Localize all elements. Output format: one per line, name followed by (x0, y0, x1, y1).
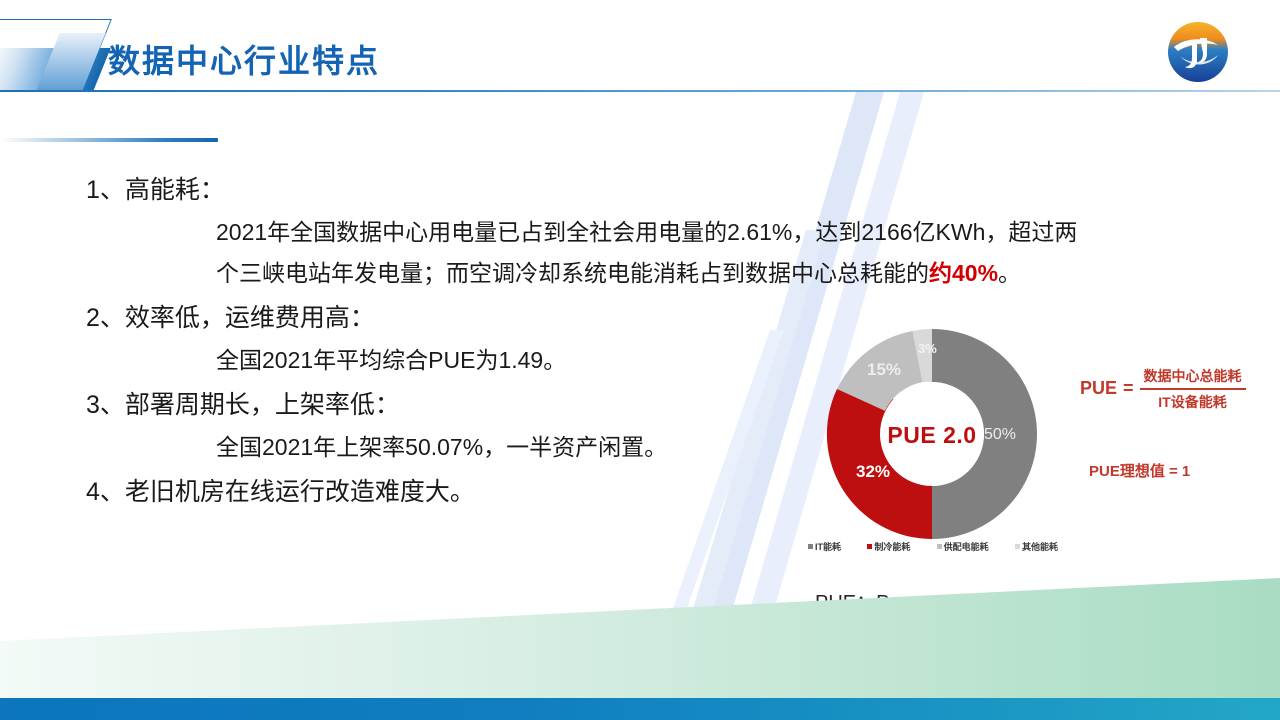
legend-item-power: 供配电能耗 (937, 540, 989, 553)
bullet-1-body-post: 。 (998, 260, 1021, 286)
legend-label-cooling: 制冷能耗 (874, 540, 910, 553)
title-underline-accent (0, 138, 218, 142)
legend-swatch-icon-cooling (867, 544, 872, 549)
chart-legend: IT能耗 制冷能耗 供配电能耗 其他能耗 (808, 540, 1058, 553)
bullet-1-highlight: 约40% (929, 260, 998, 286)
donut-value-power: 15% (867, 360, 901, 380)
page-title: 数据中心行业特点 (108, 36, 380, 82)
legend-item-cooling: 制冷能耗 (867, 540, 910, 553)
legend-swatch-icon-power (937, 544, 942, 549)
slide-canvas: 数据中心行业特点 1、高能耗： 2021年全国数据中心用电量已占到全社会用电量的… (0, 0, 1280, 720)
donut-value-other: 3% (918, 341, 937, 356)
formula-numerator: 数据中心总能耗 (1140, 366, 1246, 388)
bullet-1-body: 2021年全国数据中心用电量已占到全社会用电量的2.61%，达到2166亿KWh… (86, 212, 1096, 294)
legend-swatch-icon-it (808, 544, 813, 549)
donut-value-it: 50% (984, 426, 1016, 444)
legend-swatch-icon-other (1015, 544, 1020, 549)
formula-denominator: IT设备能耗 (1154, 390, 1230, 412)
donut-value-cooling: 32% (856, 462, 890, 482)
legend-label-it: IT能耗 (815, 540, 841, 553)
pue-ideal-value: PUE理想值 = 1 (1089, 460, 1190, 481)
formula-fraction: 数据中心总能耗 IT设备能耗 (1140, 366, 1246, 412)
pue-formula: PUE = 数据中心总能耗 IT设备能耗 (1080, 366, 1246, 412)
formula-equals-sign: = (1123, 378, 1134, 399)
pue-donut-chart: PUE 2.0 50% 32% 15% 3% (812, 322, 1052, 572)
bullet-1-heading: 1、高能耗： (86, 168, 1096, 212)
legend-item-other: 其他能耗 (1015, 540, 1058, 553)
jp-logo (1166, 20, 1230, 84)
bottom-bar (0, 698, 1280, 720)
legend-item-it: IT能耗 (808, 540, 841, 553)
header-divider-line (0, 90, 1280, 92)
bottom-green-wedge (0, 578, 1280, 698)
legend-label-power: 供配电能耗 (944, 540, 989, 553)
legend-label-other: 其他能耗 (1022, 540, 1058, 553)
bullet-item-1: 1、高能耗： 2021年全国数据中心用电量已占到全社会用电量的2.61%，达到2… (86, 168, 1096, 294)
formula-pue-label: PUE (1080, 378, 1117, 399)
